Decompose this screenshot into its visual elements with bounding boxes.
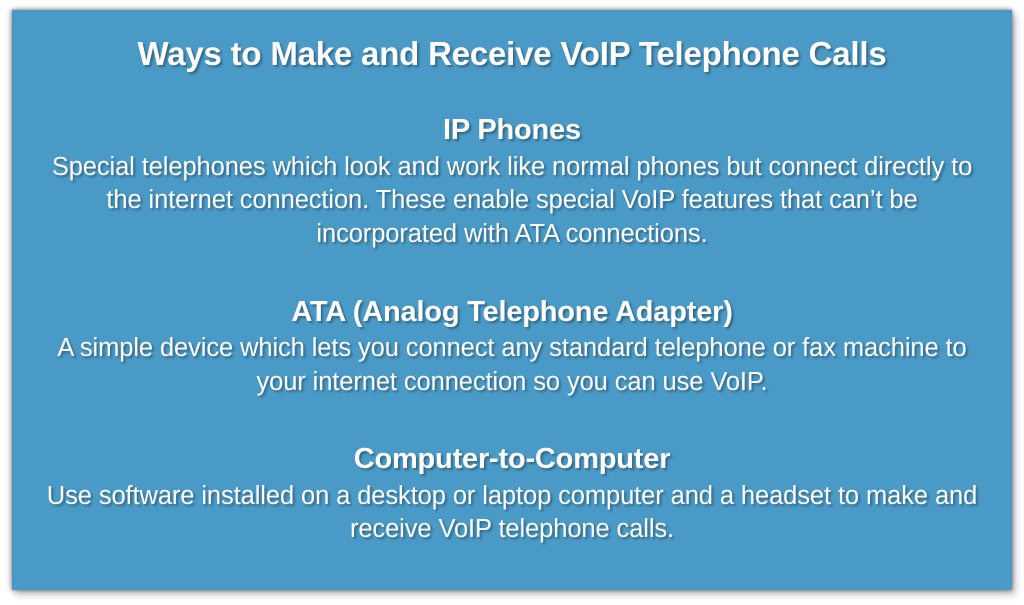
section-body-computer-to-computer: Use software installed on a desktop or l… [38,480,986,547]
section-heading-ip-phones: IP Phones [38,114,986,147]
section-heading-ata: ATA (Analog Telephone Adapter) [38,296,986,329]
section-ip-phones: IP Phones Special telephones which look … [38,114,986,251]
section-body-ata: A simple device which lets you connect a… [38,332,986,399]
voip-info-panel: Ways to Make and Receive VoIP Telephone … [12,10,1012,590]
page-title: Ways to Make and Receive VoIP Telephone … [38,30,986,72]
infographic-root: Ways to Make and Receive VoIP Telephone … [0,0,1024,605]
section-heading-computer-to-computer: Computer-to-Computer [38,443,986,476]
section-ata: ATA (Analog Telephone Adapter) A simple … [38,296,986,400]
section-computer-to-computer: Computer-to-Computer Use software instal… [38,443,986,547]
section-body-ip-phones: Special telephones which look and work l… [38,151,986,252]
